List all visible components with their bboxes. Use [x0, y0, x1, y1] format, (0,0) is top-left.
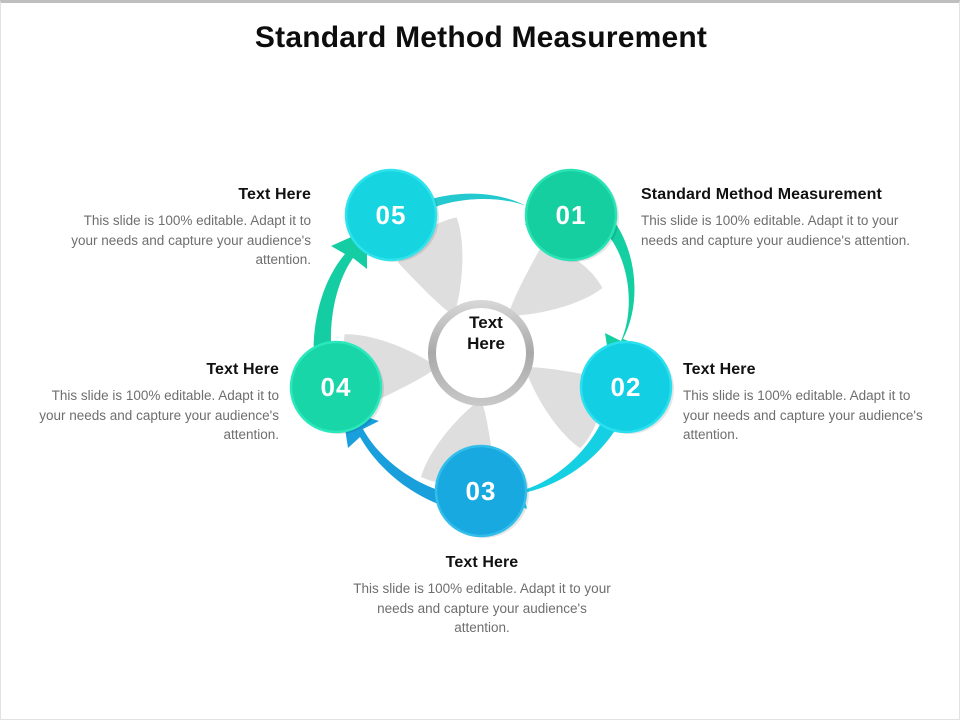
text-block-04-heading: Text Here [31, 361, 279, 379]
text-block-02: Text Here This slide is 100% editable. A… [683, 361, 931, 445]
text-block-04: Text Here This slide is 100% editable. A… [31, 361, 279, 445]
text-block-05: Text Here This slide is 100% editable. A… [63, 186, 311, 270]
cycle-diagram-svg [281, 153, 681, 553]
cycle-diagram: 01 02 03 04 05 [281, 153, 681, 553]
text-block-01-body: This slide is 100% editable. Adapt it to… [641, 211, 933, 250]
text-block-01: Standard Method Measurement This slide i… [641, 186, 933, 250]
text-block-03: Text Here This slide is 100% editable. A… [349, 554, 615, 638]
text-block-01-heading: Standard Method Measurement [641, 186, 933, 204]
text-block-02-body: This slide is 100% editable. Adapt it to… [683, 386, 931, 445]
text-block-02-heading: Text Here [683, 361, 931, 379]
node-circle-03[interactable] [436, 446, 529, 538]
text-block-03-heading: Text Here [349, 554, 615, 572]
node-circle-01[interactable] [526, 170, 619, 262]
text-block-05-body: This slide is 100% editable. Adapt it to… [63, 211, 311, 270]
center-hub[interactable] [428, 300, 534, 406]
node-circle-02[interactable] [581, 342, 674, 434]
text-block-05-heading: Text Here [63, 186, 311, 204]
node-circle-05[interactable] [346, 170, 439, 262]
text-block-04-body: This slide is 100% editable. Adapt it to… [31, 386, 279, 445]
text-block-03-body: This slide is 100% editable. Adapt it to… [349, 579, 615, 638]
node-circle-04[interactable] [291, 342, 384, 434]
slide-canvas: Standard Method Measurement [0, 0, 960, 720]
page-title: Standard Method Measurement [1, 21, 960, 55]
